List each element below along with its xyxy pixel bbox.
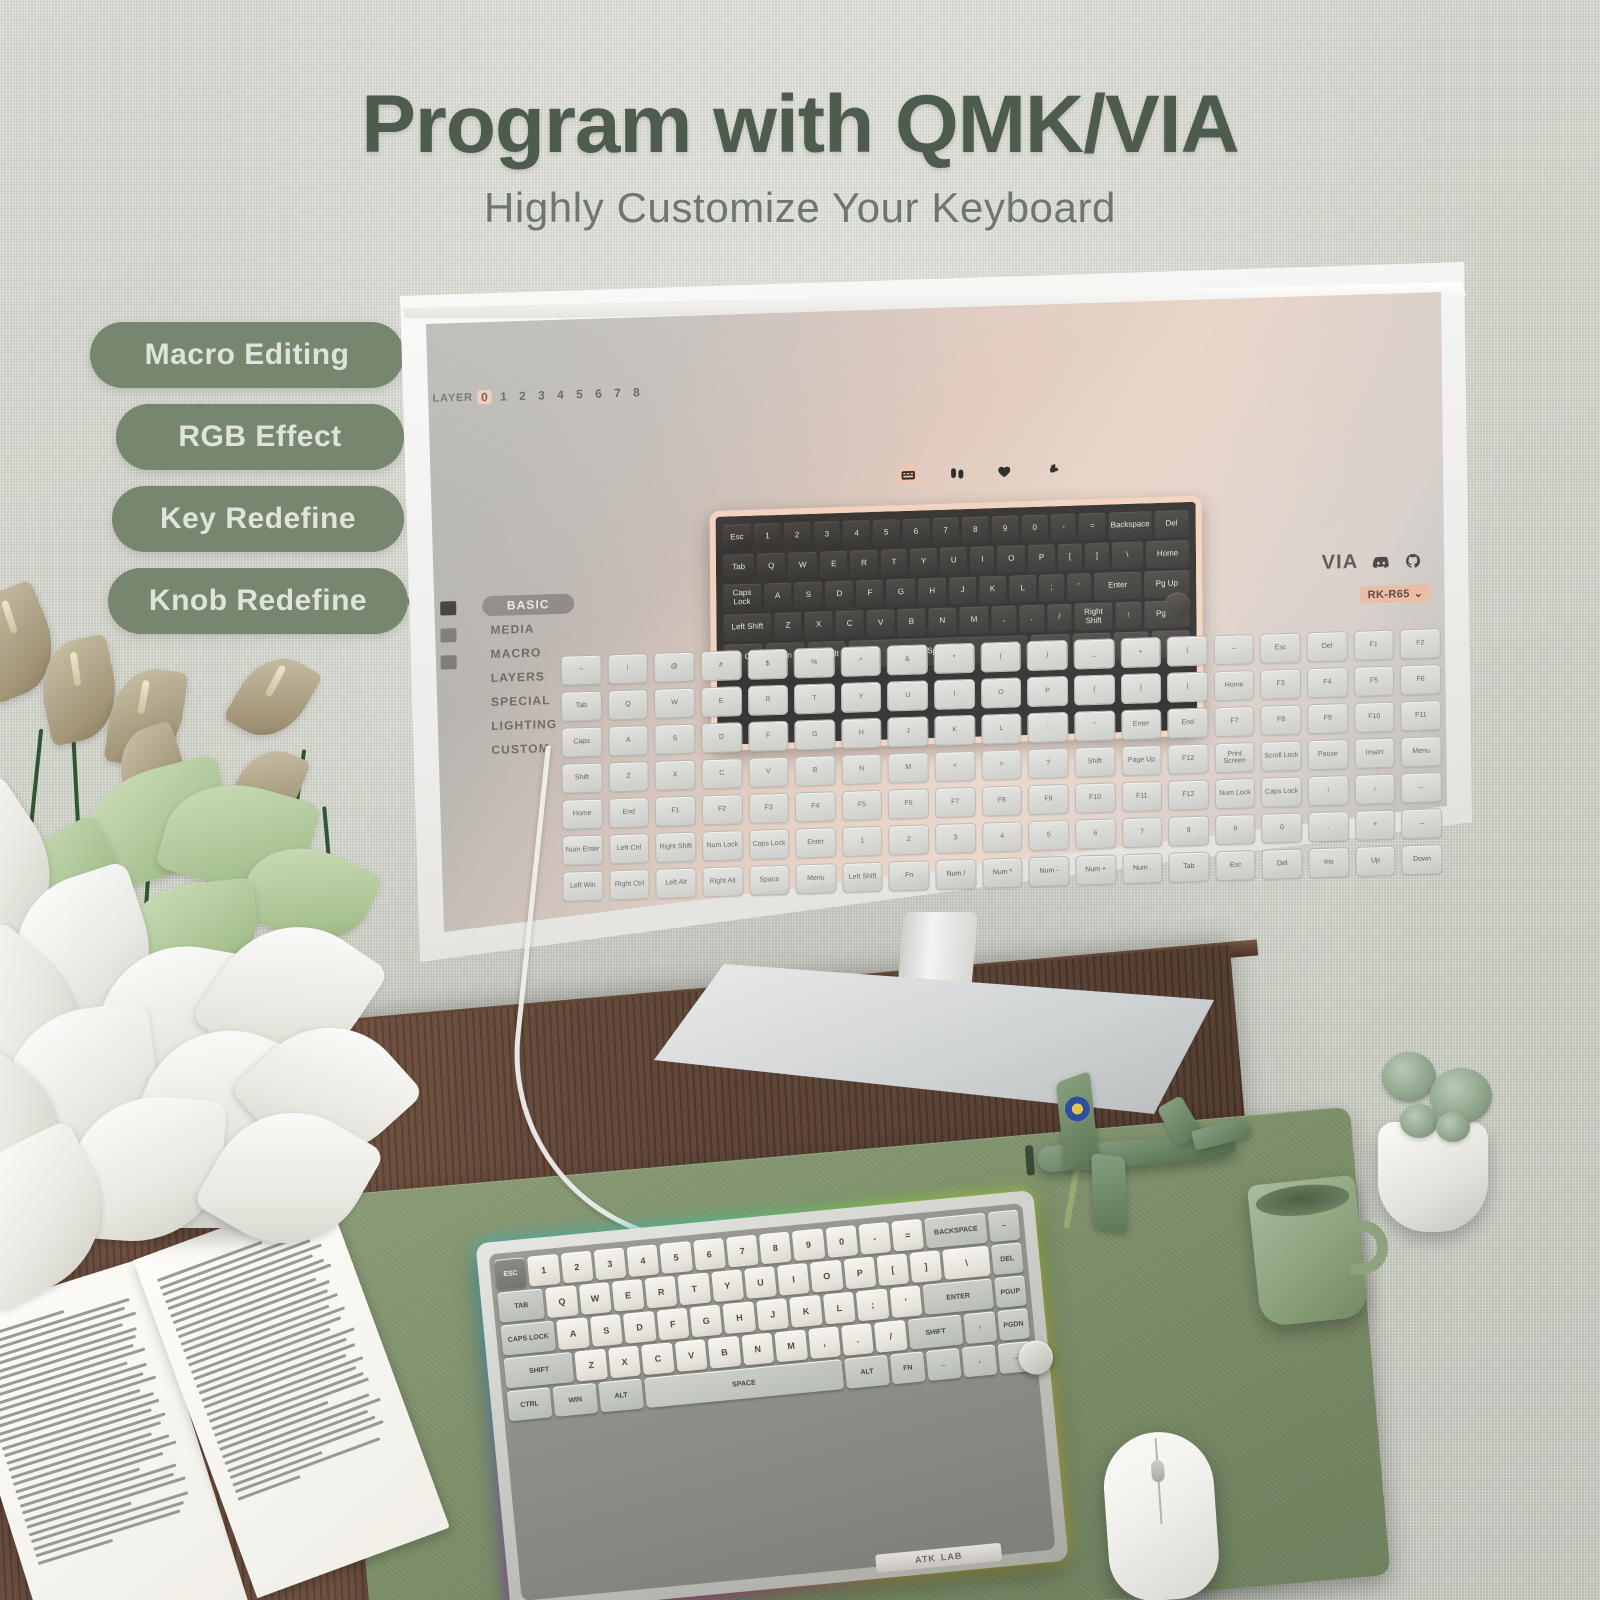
picker-key[interactable]: " — [1074, 710, 1115, 741]
keycap[interactable]: 9 — [792, 1228, 825, 1261]
keycap[interactable]: U — [744, 1266, 777, 1299]
keycap[interactable]: ← — [926, 1348, 962, 1381]
picker-key[interactable]: F5 — [842, 790, 883, 821]
layer-button-8[interactable]: 8 — [630, 385, 644, 399]
picker-key[interactable]: → — [1401, 808, 1442, 839]
preview-key[interactable]: Esc — [723, 524, 752, 552]
keycap[interactable]: I — [777, 1263, 810, 1296]
picker-key[interactable]: O — [981, 677, 1022, 708]
via-logo: VIA — [1322, 551, 1359, 575]
picker-key[interactable]: Num - — [1029, 856, 1070, 887]
picker-key[interactable]: 2 — [888, 824, 929, 855]
picker-key[interactable]: D — [701, 722, 742, 753]
keycap[interactable]: ] — [909, 1250, 942, 1283]
picker-key[interactable]: F10 — [1075, 782, 1116, 813]
keycap[interactable]: , — [808, 1326, 841, 1359]
layer-button-0[interactable]: 0 — [478, 390, 492, 404]
preview-key[interactable]: D — [825, 581, 853, 609]
picker-key[interactable]: H — [841, 718, 882, 749]
keycap[interactable]: P — [843, 1257, 876, 1290]
preview-key[interactable]: S — [794, 582, 822, 610]
picker-key[interactable]: ↑ — [1308, 775, 1349, 806]
picker-key[interactable]: Tab — [1168, 851, 1209, 882]
picker-key[interactable]: F6 — [888, 788, 929, 819]
picker-key[interactable]: Del — [1262, 849, 1303, 880]
picker-key[interactable]: * — [934, 643, 975, 674]
wireless-mouse[interactable] — [1100, 1428, 1221, 1600]
layer-selector[interactable]: LAYER 0 1 2 3 4 5 6 7 8 — [432, 385, 643, 406]
preview-key[interactable]: - — [1051, 514, 1076, 542]
keycap[interactable]: PGDN — [997, 1308, 1030, 1341]
preview-key[interactable]: 7 — [932, 517, 959, 545]
picker-key[interactable]: F9 — [1307, 703, 1348, 734]
picker-key[interactable]: 5 — [1028, 820, 1069, 851]
picker-key[interactable]: Menu — [1401, 736, 1442, 767]
keycap[interactable]: W — [579, 1282, 612, 1315]
product-scene: Program with QMK/VIA Highly Customize Yo… — [0, 0, 1600, 1600]
keycap[interactable]: 2 — [560, 1251, 593, 1284]
picker-key[interactable]: F12 — [1168, 743, 1209, 774]
keycap[interactable]: M — [774, 1330, 807, 1363]
keycap[interactable]: BACKSPACE — [924, 1213, 987, 1249]
picker-key[interactable]: 3 — [935, 823, 976, 854]
keycap[interactable]: \ — [943, 1246, 991, 1280]
ceramic-mug — [1247, 1175, 1369, 1328]
picker-key[interactable]: F4 — [1307, 667, 1348, 698]
layer-button-6[interactable]: 6 — [592, 386, 606, 400]
picker-key[interactable]: > — [981, 749, 1022, 780]
picker-key[interactable]: ( — [980, 641, 1021, 672]
preview-key[interactable]: R — [850, 550, 878, 578]
preview-key[interactable]: Caps Lock — [723, 584, 761, 612]
preview-key[interactable]: Left Shift — [723, 613, 771, 642]
picker-key[interactable]: Tab — [561, 691, 602, 722]
keycap[interactable]: ↑ — [964, 1311, 997, 1344]
keycap[interactable]: C — [641, 1342, 674, 1375]
keycap[interactable]: SHIFT — [908, 1315, 964, 1350]
preview-key[interactable]: N — [928, 607, 956, 635]
keycap[interactable]: ~ — [988, 1210, 1021, 1243]
picker-key[interactable]: Left Shift — [842, 862, 883, 893]
picker-key[interactable]: F11 — [1400, 700, 1441, 731]
plane-lower-wing — [1091, 1153, 1127, 1233]
feature-row: RGB Effect — [90, 404, 430, 486]
picker-key[interactable]: 0 — [1261, 813, 1302, 844]
picker-key[interactable]: ) — [1027, 640, 1068, 671]
picker-key[interactable]: Esc — [1215, 850, 1256, 881]
preview-key[interactable]: Enter — [1094, 572, 1142, 601]
picker-key[interactable]: F1 — [1353, 630, 1394, 661]
preview-key[interactable]: 2 — [784, 522, 811, 550]
picker-key[interactable]: S — [654, 724, 695, 755]
picker-key[interactable]: _ — [1074, 638, 1115, 669]
keycap[interactable]: 5 — [660, 1241, 693, 1274]
layer-label: LAYER — [433, 392, 473, 405]
picker-key[interactable]: Insert — [1354, 738, 1395, 769]
keycap[interactable]: CAPS LOCK — [500, 1321, 556, 1356]
picker-key[interactable]: $ — [747, 649, 788, 680]
keycap[interactable]: FN — [890, 1351, 926, 1384]
preview-key[interactable]: X — [805, 611, 833, 639]
preview-key[interactable]: W — [788, 552, 817, 580]
preview-key[interactable]: 4 — [843, 520, 870, 548]
preview-key[interactable]: \ — [1112, 541, 1144, 569]
keycap[interactable]: ↓ — [962, 1344, 998, 1377]
picker-key[interactable]: Num / — [935, 859, 976, 890]
picker-key[interactable]: M — [888, 752, 929, 783]
picker-key[interactable]: ~ — [561, 655, 602, 686]
discord-icon[interactable] — [1372, 554, 1390, 569]
keycap[interactable]: 8 — [759, 1232, 792, 1265]
picker-key[interactable]: | — [1167, 635, 1208, 666]
keycap[interactable]: Y — [711, 1269, 744, 1302]
keycap[interactable]: L — [823, 1292, 856, 1325]
preview-key[interactable]: C — [835, 610, 863, 638]
keycap[interactable]: F — [656, 1308, 689, 1341]
preview-key[interactable]: G — [887, 579, 916, 607]
preview-key[interactable]: Backspace — [1109, 511, 1152, 539]
via-toolbar — [897, 462, 1063, 483]
preview-key[interactable]: 3 — [813, 521, 840, 549]
keycap[interactable]: J — [756, 1298, 789, 1331]
picker-key[interactable]: Num + — [1075, 854, 1116, 885]
preview-key[interactable]: Home — [1146, 540, 1189, 568]
picker-key[interactable]: @ — [654, 652, 695, 683]
flower-spathe — [223, 643, 323, 750]
picker-key[interactable]: ^ — [840, 646, 881, 677]
keycap[interactable]: R — [645, 1276, 678, 1309]
preview-key[interactable]: ] — [1085, 543, 1109, 571]
keycap[interactable]: S — [590, 1314, 623, 1347]
keyboard-plate: ESC 1 2 3 4 5 6 7 8 9 0 - = BACKSPACE ~ … — [489, 1203, 1056, 1600]
picker-key[interactable]: G — [794, 719, 835, 750]
picker-key[interactable]: < — [935, 751, 976, 782]
succulent-pot — [1378, 1122, 1488, 1232]
preview-key[interactable]: [ — [1058, 543, 1082, 571]
picker-key[interactable]: : — [1027, 712, 1068, 743]
picker-key[interactable]: ? — [1028, 748, 1069, 779]
picker-key[interactable]: Esc — [1260, 633, 1301, 664]
flower-bouquet — [0, 548, 470, 1248]
keycap[interactable]: PGUP — [994, 1275, 1027, 1308]
feature-pill-rgb-effect[interactable]: RGB Effect — [116, 404, 404, 470]
preview-key[interactable]: , — [992, 605, 1017, 633]
picker-key[interactable]: + — [1355, 810, 1396, 841]
keycap[interactable]: - — [858, 1222, 891, 1255]
landing-gear — [1063, 1167, 1080, 1229]
preview-key[interactable]: A — [764, 583, 792, 611]
preview-key[interactable]: 6 — [902, 518, 929, 546]
picker-key[interactable]: ! — [607, 653, 648, 684]
succulent-rosette — [1400, 1104, 1438, 1138]
picker-key[interactable]: { — [1074, 674, 1115, 705]
keycap[interactable]: H — [723, 1301, 756, 1334]
picker-key[interactable]: I — [934, 679, 975, 710]
brand-text-left: ATK — [915, 1553, 937, 1565]
picker-key[interactable]: Ins — [1308, 847, 1349, 878]
picker-key[interactable]: 7 — [1122, 817, 1163, 848]
picker-key[interactable]: Down — [1402, 844, 1443, 875]
keycap[interactable]: B — [708, 1336, 741, 1369]
picker-key[interactable]: ~ — [1213, 634, 1254, 665]
mechanical-keyboard[interactable]: ESC 1 2 3 4 5 6 7 8 9 0 - = BACKSPACE ~ … — [475, 1190, 1068, 1600]
preview-key[interactable]: V — [867, 609, 895, 637]
picker-key[interactable]: + — [1120, 637, 1161, 668]
succulent-rosette — [1436, 1112, 1470, 1142]
preview-key[interactable]: ↑ — [1115, 602, 1142, 630]
picker-key[interactable]: K — [934, 715, 975, 746]
picker-key[interactable]: ↓ — [1354, 774, 1395, 805]
device-name: RK-R65 — [1368, 588, 1410, 601]
layer-button-7[interactable]: 7 — [611, 386, 625, 400]
menu-item-basic[interactable]: BASIC — [482, 593, 574, 616]
picker-key[interactable]: Shift — [1074, 746, 1115, 777]
preview-key[interactable]: 5 — [873, 519, 900, 547]
picker-key[interactable]: A — [608, 725, 649, 756]
picker-key[interactable]: F11 — [1121, 781, 1162, 812]
picker-key[interactable]: & — [887, 644, 928, 675]
picker-key[interactable]: Scroll Lock — [1261, 741, 1302, 772]
keycap[interactable]: = — [891, 1219, 924, 1252]
picker-key[interactable]: Home — [1214, 670, 1255, 701]
keycap[interactable]: K — [789, 1295, 822, 1328]
keycap[interactable]: Q — [545, 1285, 578, 1318]
picker-key[interactable]: Num * — [982, 857, 1023, 888]
picker-key[interactable]: F7 — [1214, 706, 1255, 737]
preview-key[interactable]: . — [1019, 605, 1044, 633]
picker-key[interactable]: 8 — [1168, 815, 1209, 846]
picker-key[interactable]: Del — [1307, 631, 1348, 662]
keycap[interactable]: E — [612, 1279, 645, 1312]
keycap[interactable]: ; — [856, 1289, 889, 1322]
keycap[interactable]: ' — [889, 1285, 922, 1318]
picker-key[interactable]: L — [981, 713, 1022, 744]
picker-key[interactable]: R — [747, 685, 788, 716]
picker-key[interactable]: % — [794, 647, 835, 678]
keycap[interactable]: N — [741, 1333, 774, 1366]
picker-key[interactable]: F12 — [1168, 779, 1209, 810]
picker-key[interactable]: . — [1308, 811, 1349, 842]
feature-pill-key-redefine[interactable]: Key Redefine — [112, 486, 404, 552]
preview-key[interactable]: / — [1047, 604, 1072, 632]
preview-key[interactable]: O — [997, 545, 1025, 573]
key-tester-icon[interactable] — [945, 465, 967, 482]
picker-key[interactable]: F9 — [1028, 784, 1069, 815]
picker-key[interactable]: Q — [608, 689, 649, 720]
plane-propeller — [1025, 1145, 1035, 1175]
keycap[interactable]: WIN — [552, 1383, 598, 1417]
picker-key[interactable]: F7 — [935, 787, 976, 818]
preview-key[interactable]: B — [897, 608, 925, 636]
picker-key[interactable]: T — [794, 683, 835, 714]
mug-rim — [1254, 1180, 1351, 1220]
keycap[interactable]: D — [623, 1311, 656, 1344]
picker-key[interactable]: Caps Lock — [1261, 777, 1302, 808]
picker-key[interactable]: W — [654, 688, 695, 719]
keycap[interactable]: 6 — [693, 1238, 726, 1271]
picker-key[interactable]: | — [1167, 671, 1208, 702]
succulent-rosette — [1382, 1052, 1436, 1102]
keycap[interactable]: Z — [575, 1349, 608, 1382]
preview-key[interactable]: 0 — [1021, 514, 1048, 542]
keycap[interactable]: V — [675, 1339, 708, 1372]
preview-key[interactable]: U — [940, 547, 968, 575]
keycap[interactable]: X — [608, 1346, 641, 1379]
keycap[interactable]: DEL — [991, 1242, 1024, 1275]
chevron-down-icon: ⌄ — [1414, 587, 1424, 600]
picker-key[interactable]: Pause — [1308, 739, 1349, 770]
keycap[interactable]: CTRL — [507, 1387, 553, 1421]
keycap[interactable]: . — [841, 1323, 874, 1356]
lighting-icon[interactable] — [993, 463, 1015, 480]
menu-item-media[interactable]: MEDIA — [482, 617, 574, 640]
preview-key[interactable]: 8 — [962, 516, 989, 544]
picker-key[interactable]: Fn — [889, 860, 930, 891]
layer-button-2[interactable]: 2 — [516, 389, 530, 403]
layer-button-3[interactable]: 3 — [535, 388, 549, 402]
device-selector-badge[interactable]: RK-R65 ⌄ — [1361, 584, 1431, 603]
keycap[interactable]: 0 — [825, 1225, 858, 1258]
preview-key[interactable]: J — [949, 577, 976, 605]
picker-key[interactable]: F3 — [1260, 669, 1301, 700]
picker-key[interactable]: Num . — [1122, 853, 1163, 884]
keymap-icon[interactable] — [897, 467, 919, 484]
preview-key[interactable]: E — [820, 551, 847, 579]
keycap[interactable]: / — [874, 1320, 907, 1353]
brand-text-right: LAB — [940, 1550, 962, 1562]
picker-key[interactable]: F5 — [1354, 666, 1395, 697]
preview-key[interactable]: I — [970, 546, 994, 574]
picker-key[interactable]: F10 — [1354, 702, 1395, 733]
feature-row: Macro Editing — [90, 322, 430, 404]
feature-pill-macro-editing[interactable]: Macro Editing — [90, 322, 404, 388]
keycap[interactable]: 3 — [593, 1248, 626, 1281]
via-brand-bar: VIA — [1322, 549, 1423, 575]
picker-key[interactable]: J — [888, 716, 929, 747]
picker-key[interactable]: P — [1027, 676, 1068, 707]
keycap[interactable]: A — [556, 1317, 589, 1350]
picker-key[interactable]: Enter — [1121, 709, 1162, 740]
picker-key[interactable]: Page Up — [1121, 745, 1162, 776]
preview-key[interactable]: P — [1028, 544, 1055, 572]
picker-key[interactable]: U — [887, 680, 928, 711]
picker-key[interactable]: E — [701, 686, 742, 717]
preview-key[interactable]: = — [1079, 513, 1106, 541]
page-title: Program with QMK/VIA — [0, 78, 1600, 172]
preview-key[interactable]: M — [959, 606, 988, 634]
keycap[interactable]: G — [690, 1305, 723, 1338]
picker-key[interactable]: F — [748, 721, 789, 752]
picker-key[interactable]: 9 — [1215, 814, 1256, 845]
page-subtitle: Highly Customize Your Keyboard — [0, 184, 1600, 232]
picker-key[interactable]: Up — [1355, 846, 1396, 877]
preview-key[interactable]: L — [1009, 575, 1036, 603]
picker-key[interactable]: N — [841, 754, 882, 785]
keycap[interactable]: 7 — [726, 1235, 759, 1268]
picker-key[interactable]: # — [701, 650, 742, 681]
picker-key[interactable]: F8 — [1261, 705, 1302, 736]
layer-button-1[interactable]: 1 — [497, 389, 511, 403]
layer-button-5[interactable]: 5 — [573, 387, 587, 401]
keycap[interactable]: 1 — [527, 1254, 560, 1287]
model-airplane — [1011, 1080, 1260, 1236]
picker-key[interactable]: End — [1167, 707, 1208, 738]
picker-key[interactable]: ← — [1401, 772, 1442, 803]
layer-button-4[interactable]: 4 — [554, 388, 568, 402]
preview-key[interactable]: Z — [774, 612, 802, 640]
preview-key[interactable]: K — [979, 576, 1007, 604]
preview-key[interactable]: ' — [1067, 573, 1091, 601]
preview-key[interactable]: Q — [757, 553, 785, 581]
keycap[interactable]: O — [810, 1260, 843, 1293]
preview-key[interactable]: H — [918, 578, 946, 606]
picker-key[interactable]: Y — [841, 682, 882, 713]
keycap[interactable]: 4 — [626, 1244, 659, 1277]
keycap[interactable]: SHIFT — [504, 1352, 575, 1388]
keycap[interactable]: [ — [876, 1253, 909, 1286]
keycap[interactable]: T — [678, 1273, 711, 1306]
picker-key[interactable]: Print Screen — [1214, 742, 1255, 773]
keycap[interactable]: ALT — [844, 1355, 890, 1389]
keycap[interactable]: TAB — [497, 1288, 545, 1322]
picker-key[interactable]: } — [1120, 673, 1161, 704]
preview-key[interactable]: Y — [910, 548, 937, 576]
settings-gear-icon[interactable] — [1041, 462, 1063, 479]
preview-key[interactable]: Del — [1154, 510, 1188, 538]
keycap[interactable]: ESC — [494, 1257, 527, 1290]
preview-key[interactable]: ; — [1039, 574, 1064, 602]
preview-key[interactable]: Right Shift — [1075, 602, 1113, 630]
preview-key[interactable]: 9 — [992, 515, 1019, 543]
preview-key[interactable]: F — [856, 580, 883, 608]
picker-key[interactable]: F6 — [1400, 664, 1441, 695]
preview-key[interactable]: T — [881, 549, 908, 577]
picker-key[interactable]: 6 — [1075, 818, 1116, 849]
preview-key[interactable]: Tab — [723, 554, 755, 582]
keycap[interactable]: ENTER — [923, 1278, 994, 1314]
picker-key[interactable]: Num Lock — [1215, 778, 1256, 809]
picker-key[interactable]: F8 — [981, 785, 1022, 816]
picker-key[interactable]: 4 — [982, 821, 1023, 852]
picker-key[interactable]: 1 — [842, 826, 883, 857]
picker-key[interactable]: F2 — [1400, 628, 1441, 659]
keycap[interactable]: ALT — [598, 1378, 644, 1412]
github-icon[interactable] — [1404, 553, 1422, 568]
mouse-scroll-wheel[interactable] — [1151, 1460, 1166, 1483]
preview-key[interactable]: 1 — [754, 523, 781, 551]
